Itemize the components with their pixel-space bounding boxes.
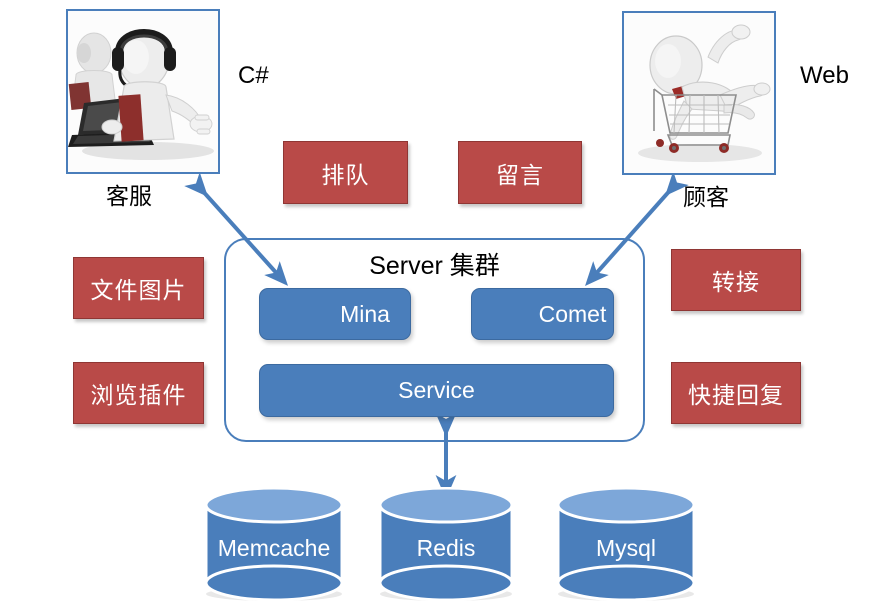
server-cluster-title: Server 集群 [226, 246, 643, 282]
feature-queue[interactable]: 排队 [283, 141, 408, 204]
customer-caption: 顾客 [683, 186, 729, 209]
datastore-mysql[interactable]: Mysql [552, 487, 700, 603]
feature-browse-plugin[interactable]: 浏览插件 [73, 362, 204, 424]
database-cylinder-icon [552, 487, 700, 603]
customer-illustration-frame [622, 11, 776, 175]
agent-tech-label: C# [238, 64, 269, 88]
module-comet[interactable]: Comet [471, 288, 614, 340]
server-cluster-container: Server 集群 Mina Comet Service [224, 238, 645, 442]
datastore-memcache[interactable]: Memcache [200, 487, 348, 603]
agent-illustration-frame [66, 9, 220, 174]
database-cylinder-icon [374, 487, 518, 603]
module-service[interactable]: Service [259, 364, 614, 417]
feature-quick-reply-label: 快捷回复 [688, 376, 784, 410]
feature-browse-plugin-label: 浏览插件 [91, 376, 187, 410]
feature-transfer-label: 转接 [712, 263, 760, 297]
module-mina[interactable]: Mina [259, 288, 411, 340]
module-mina-label: Mina [340, 301, 390, 328]
feature-queue-label: 排队 [322, 156, 370, 190]
database-cylinder-icon [200, 487, 348, 603]
feature-quick-reply[interactable]: 快捷回复 [671, 362, 801, 424]
feature-transfer[interactable]: 转接 [671, 249, 801, 311]
agent-caption: 客服 [106, 185, 152, 208]
feature-file-image-label: 文件图片 [91, 271, 187, 305]
feature-file-image[interactable]: 文件图片 [73, 257, 204, 319]
module-comet-label: Comet [539, 301, 607, 328]
feature-message[interactable]: 留言 [458, 141, 582, 204]
datastore-redis[interactable]: Redis [374, 487, 518, 603]
customer-tech-label: Web [800, 64, 849, 88]
feature-message-label: 留言 [496, 156, 544, 190]
diagram-canvas: Mina --> Comet --> datastores --> [0, 0, 876, 616]
module-service-label: Service [398, 377, 475, 404]
shopping-cart-customer-icon [624, 13, 774, 173]
customer-service-agent-icon [68, 11, 218, 172]
